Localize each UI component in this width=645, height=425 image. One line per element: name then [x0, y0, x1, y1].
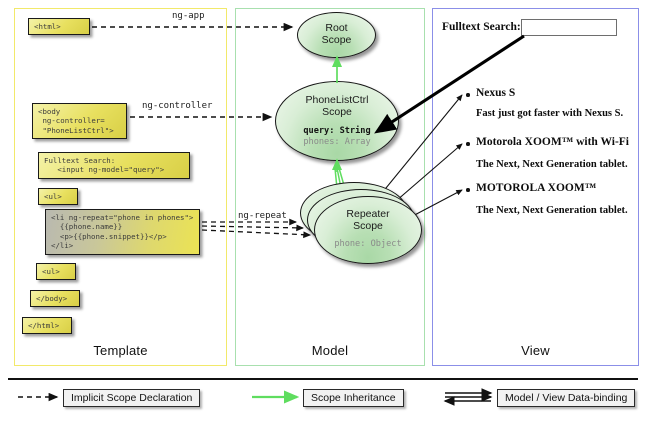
root-scope: RootScope	[297, 12, 376, 58]
html-tag-box: <html>	[28, 18, 90, 35]
column-label-model: Model	[235, 343, 425, 358]
search-input-box: Fulltext Search: <input ng-model="query"…	[38, 152, 190, 179]
legend-implicit-scope-declaration: Implicit Scope Declaration	[63, 389, 200, 407]
body-tag-box: <body ng-controller= "PhoneListCtrl">	[32, 103, 127, 139]
repeater-scope: RepeaterScope phone: Object	[314, 196, 422, 264]
edge-label-ng-controller: ng-controller	[140, 101, 214, 111]
diagram-canvas: <html> <body ng-controller= "PhoneListCt…	[0, 0, 645, 425]
legend-data-binding: Model / View Data-binding	[497, 389, 635, 407]
panel-template	[14, 8, 227, 366]
edge-label-ng-repeat: ng-repeat	[236, 211, 289, 221]
li-repeat-box: <li ng-repeat="phone in phones"> {{phone…	[45, 209, 200, 255]
ul-close-box: <ul>	[36, 263, 76, 280]
legend-arrow-databinding	[445, 393, 491, 401]
view-phone-name-2: MOTOROLA XOOM™	[476, 182, 596, 194]
repeater-scope-prop-phone: phone: Object	[315, 239, 421, 250]
phonelistctrl-scope-title: PhoneListCtrlScope	[276, 82, 398, 118]
column-label-template: Template	[14, 343, 227, 358]
phonelistctrl-scope-prop-phones: phones: Array	[276, 137, 398, 148]
column-label-view: View	[432, 343, 639, 358]
view-bullet-2	[466, 188, 470, 192]
view-phone-snippet-0: Fast just got faster with Nexus S.	[476, 108, 623, 119]
view-bullet-1	[466, 142, 470, 146]
ul-open-box: <ul>	[38, 188, 78, 205]
phonelistctrl-scope-prop-query: query: String	[276, 126, 398, 137]
html-close-box: </html>	[22, 317, 72, 334]
view-phone-name-0: Nexus S	[476, 87, 515, 99]
view-phone-snippet-2: The Next, Next Generation tablet.	[476, 205, 628, 216]
view-phone-name-1: Motorola XOOM™ with Wi-Fi	[476, 136, 629, 148]
body-close-box: </body>	[30, 290, 80, 307]
legend-scope-inheritance: Scope Inheritance	[303, 389, 404, 407]
view-phone-snippet-1: The Next, Next Generation tablet.	[476, 159, 628, 170]
view-bullet-0	[466, 93, 470, 97]
repeater-scope-title: RepeaterScope	[315, 197, 421, 232]
edge-label-ng-app: ng-app	[170, 11, 207, 21]
view-search-input[interactable]	[521, 19, 617, 36]
legend-divider	[8, 378, 638, 380]
view-search-label: Fulltext Search:	[442, 21, 521, 33]
phonelistctrl-scope: PhoneListCtrlScope query: String phones:…	[275, 81, 399, 161]
root-scope-title: RootScope	[298, 13, 375, 46]
